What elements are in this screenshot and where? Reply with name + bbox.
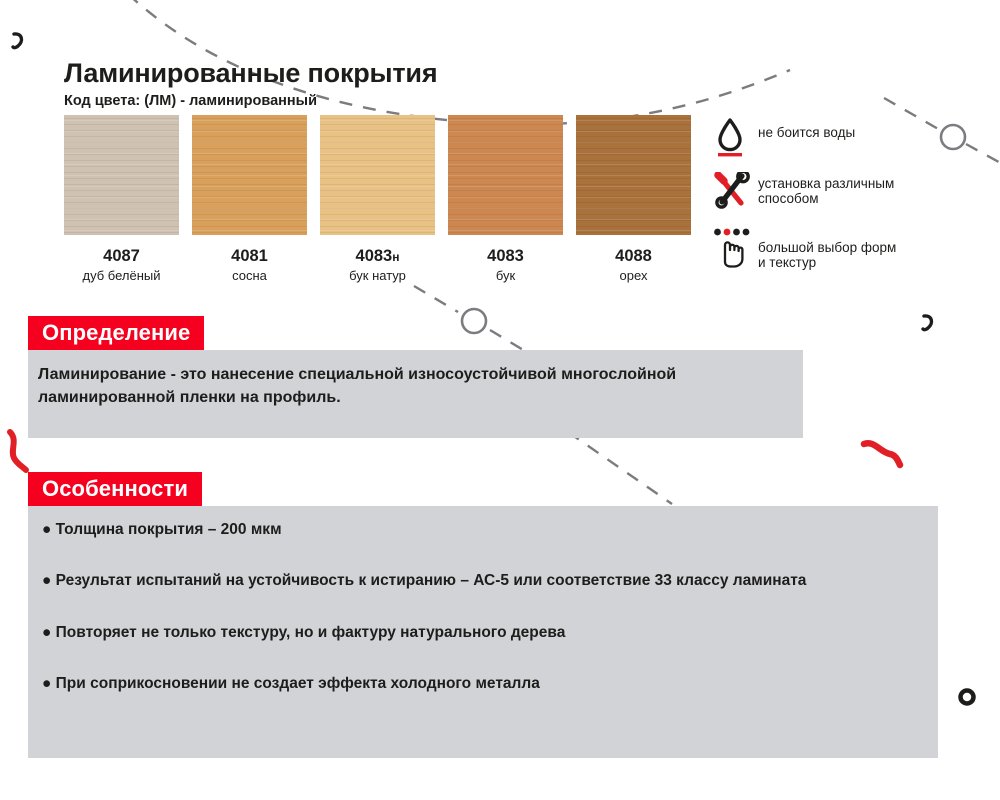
dot bbox=[733, 229, 740, 236]
dot bbox=[743, 229, 750, 236]
characteristics-list: ● Толщина покрытия – 200 мкм ● Результат… bbox=[42, 518, 932, 723]
list-item: ● При соприкосновении не создает эффекта… bbox=[42, 672, 932, 695]
swatch-name: бук bbox=[448, 268, 563, 284]
swatch-item[interactable]: 4087 дуб белёный bbox=[64, 115, 179, 284]
feature-list: не боится воды установка различным спосо… bbox=[714, 116, 954, 285]
characteristics-tag: Особенности bbox=[28, 472, 202, 506]
list-item: ● Толщина покрытия – 200 мкм bbox=[42, 518, 932, 541]
feature-label: не боится воды bbox=[758, 116, 855, 140]
swatch-code-number: 4083 bbox=[356, 247, 393, 265]
definition-text: Ламинирование - это нанесение специально… bbox=[38, 364, 738, 409]
deco-squiggle-right bbox=[864, 443, 900, 465]
wood-grain-texture bbox=[448, 115, 563, 235]
feature-label: большой выбор форм и текстур bbox=[758, 228, 896, 271]
swatch-color-4081[interactable] bbox=[192, 115, 307, 235]
swatch-code: 4088 bbox=[576, 247, 691, 266]
swatch-item[interactable]: 4081 сосна bbox=[192, 115, 307, 284]
swatch-color-4083n[interactable] bbox=[320, 115, 435, 235]
feature-item-installation: установка различным способом bbox=[714, 172, 954, 214]
deco-comma-right bbox=[923, 316, 931, 330]
feature-item-water: не боится воды bbox=[714, 116, 954, 158]
swatch-name: бук натур bbox=[320, 268, 435, 284]
page-title: Ламинированные покрытия bbox=[64, 58, 437, 89]
swatch-item[interactable]: 4083 бук bbox=[448, 115, 563, 284]
swatch-color-4088[interactable] bbox=[576, 115, 691, 235]
swatch-color-4083[interactable] bbox=[448, 115, 563, 235]
feature-label: установка различным способом bbox=[758, 172, 894, 207]
list-item: ● Результат испытаний на устойчивость к … bbox=[42, 569, 932, 592]
deco-squiggle-left bbox=[10, 432, 26, 470]
swatch-code-suffix: н bbox=[392, 250, 399, 264]
definition-tag: Определение bbox=[28, 316, 204, 350]
deco-comma-top-left bbox=[13, 34, 21, 48]
swatch-code-number: 4083 bbox=[487, 247, 524, 265]
hand-pointer-icon bbox=[714, 228, 758, 270]
swatch-item[interactable]: 4083н бук натур bbox=[320, 115, 435, 284]
list-item: ● Повторяет не только текстуру, но и фак… bbox=[42, 621, 932, 644]
wood-grain-texture bbox=[64, 115, 179, 235]
swatch-code-number: 4087 bbox=[103, 247, 140, 265]
deco-ring-bottom-right bbox=[961, 691, 974, 704]
dot bbox=[714, 229, 721, 236]
swatch-code: 4083н bbox=[320, 247, 435, 266]
swatch-code-number: 4088 bbox=[615, 247, 652, 265]
deco-circle-middle bbox=[462, 309, 486, 333]
poster-root: Ламинированные покрытия Код цвета: (ЛМ) … bbox=[0, 0, 1000, 800]
swatch-row: 4087 дуб белёный 4081 сосна 4083н бук на… bbox=[64, 115, 691, 284]
wood-grain-texture bbox=[576, 115, 691, 235]
swatch-code: 4083 bbox=[448, 247, 563, 266]
feature-item-variety: большой выбор форм и текстур bbox=[714, 228, 954, 271]
swatch-code-number: 4081 bbox=[231, 247, 268, 265]
swatch-code: 4081 bbox=[192, 247, 307, 266]
wood-grain-texture bbox=[320, 115, 435, 235]
wood-grain-texture bbox=[192, 115, 307, 235]
dashed-line-upper-right-b bbox=[966, 144, 1000, 166]
water-drop-icon bbox=[714, 116, 758, 158]
dashed-line-lower bbox=[568, 432, 672, 504]
tools-icon bbox=[714, 172, 758, 214]
dot-highlight bbox=[724, 229, 731, 236]
swatch-name: орех bbox=[576, 268, 691, 284]
swatch-name: сосна bbox=[192, 268, 307, 284]
swatch-color-4087[interactable] bbox=[64, 115, 179, 235]
page-subtitle: Код цвета: (ЛМ) - ламинированный bbox=[64, 93, 317, 109]
swatch-name: дуб белёный bbox=[64, 268, 179, 284]
swatch-item[interactable]: 4088 орех bbox=[576, 115, 691, 284]
dashed-line-middle-a bbox=[414, 286, 458, 312]
swatch-code: 4087 bbox=[64, 247, 179, 266]
